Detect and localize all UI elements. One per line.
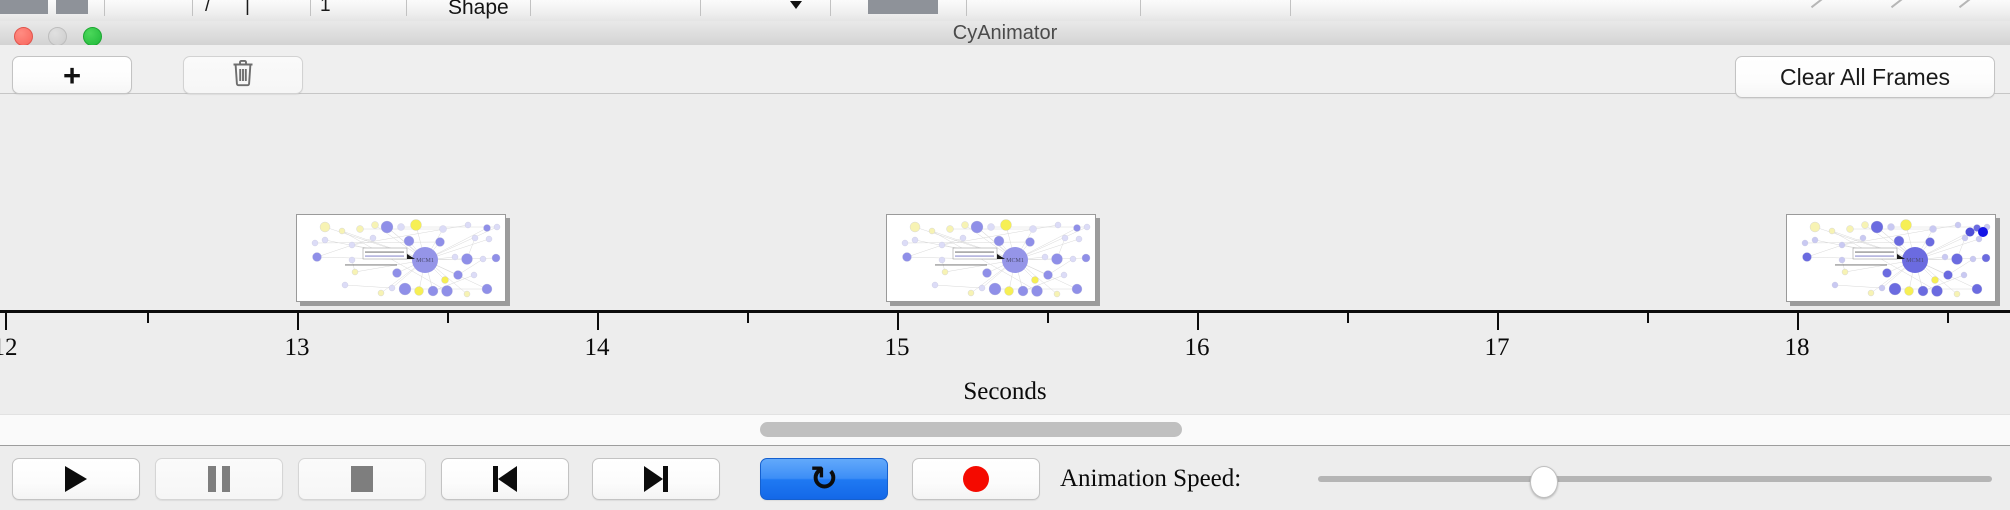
background-dark-block <box>56 0 88 14</box>
background-divider <box>104 0 105 16</box>
play-icon <box>65 466 87 492</box>
page-title: CyAnimator <box>0 21 2010 45</box>
axis-tick-minor <box>1347 313 1349 323</box>
background-divider <box>310 0 311 16</box>
delete-frame-button[interactable] <box>183 56 303 94</box>
record-icon <box>963 466 989 492</box>
skip-next-button[interactable] <box>592 458 720 500</box>
background-divider <box>966 0 967 16</box>
background-window-strip: / | 1 Shape <box>0 0 2010 22</box>
background-glyph: / <box>205 0 210 17</box>
axis-tick-minor <box>447 313 449 323</box>
axis-tick-minor <box>1947 313 1949 323</box>
background-window-label: Shape <box>448 0 509 20</box>
skip-next-icon <box>644 466 668 492</box>
axis-tick-label: 14 <box>585 334 610 362</box>
loop-button[interactable]: ↻ <box>760 458 888 500</box>
timeline-frame-thumbnail[interactable]: MCM1 <box>1786 214 1996 302</box>
axis-tick-minor <box>147 313 149 323</box>
axis-tick-label: 15 <box>885 334 910 362</box>
axis-tick-major <box>297 313 299 330</box>
axis-tick-major <box>897 313 899 330</box>
axis-tick-major <box>1497 313 1499 330</box>
skip-previous-button[interactable] <box>441 458 569 500</box>
axis-tick-major <box>5 313 7 330</box>
axis-tick-label: 17 <box>1485 334 1510 362</box>
timeline-frame-thumbnail[interactable]: MCM1 <box>886 214 1096 302</box>
axis-tick-major <box>597 313 599 330</box>
add-frame-button[interactable]: + <box>12 56 132 94</box>
animation-speed-slider[interactable] <box>1318 458 1992 500</box>
axis-tick-minor <box>1047 313 1049 323</box>
record-button[interactable] <box>912 458 1040 500</box>
clear-all-frames-button[interactable]: Clear All Frames <box>1735 56 1995 98</box>
axis-tick-minor <box>1647 313 1649 323</box>
animation-speed-label: Animation Speed: <box>1060 458 1241 500</box>
timeline-scrollbar-thumb[interactable] <box>760 422 1182 437</box>
svg-text:MCM1: MCM1 <box>1906 258 1924 264</box>
background-divider <box>530 0 531 16</box>
background-dark-block <box>0 0 48 14</box>
background-divider <box>1290 0 1291 16</box>
timeline-axis-line <box>0 310 2010 313</box>
background-divider <box>830 0 831 16</box>
axis-tick-minor <box>747 313 749 323</box>
title-bar[interactable]: CyAnimator <box>0 21 2010 46</box>
background-divider <box>700 0 701 16</box>
background-caret-icon <box>790 1 802 9</box>
axis-tick-label: 16 <box>1185 334 1210 362</box>
stop-button[interactable] <box>298 458 426 500</box>
pause-icon <box>208 466 230 492</box>
axis-tick-label: 12 <box>0 334 18 362</box>
trash-icon <box>230 58 256 93</box>
background-toolbar-row <box>0 0 2010 22</box>
timeline-frame-thumbnail[interactable]: MCM1 <box>296 214 506 302</box>
axis-tick-major <box>1797 313 1799 330</box>
plus-icon: + <box>63 60 81 91</box>
background-divider <box>192 0 193 16</box>
cyanimator-window: / | 1 Shape CyAnimator + <box>0 0 2010 510</box>
play-button[interactable] <box>12 458 140 500</box>
timeline-scrollbar[interactable] <box>0 414 2010 446</box>
pause-button[interactable] <box>155 458 283 500</box>
slider-track[interactable] <box>1318 476 1992 482</box>
slider-knob[interactable] <box>1530 466 1558 498</box>
skip-previous-icon <box>493 466 517 492</box>
axis-tick-label: 13 <box>285 334 310 362</box>
svg-text:MCM1: MCM1 <box>416 258 434 264</box>
background-glyph: | <box>245 0 250 17</box>
background-dark-block <box>868 0 938 14</box>
clear-all-frames-label: Clear All Frames <box>1780 64 1950 91</box>
stop-icon <box>351 466 373 492</box>
axis-tick-label: 18 <box>1785 334 1810 362</box>
axis-tick-major <box>1197 313 1199 330</box>
background-glyph: 1 <box>320 0 331 17</box>
background-divider <box>406 0 407 16</box>
svg-text:MCM1: MCM1 <box>1006 258 1024 264</box>
background-divider <box>1140 0 1141 16</box>
axis-title: Seconds <box>0 378 2010 406</box>
loop-icon: ↻ <box>810 462 839 496</box>
